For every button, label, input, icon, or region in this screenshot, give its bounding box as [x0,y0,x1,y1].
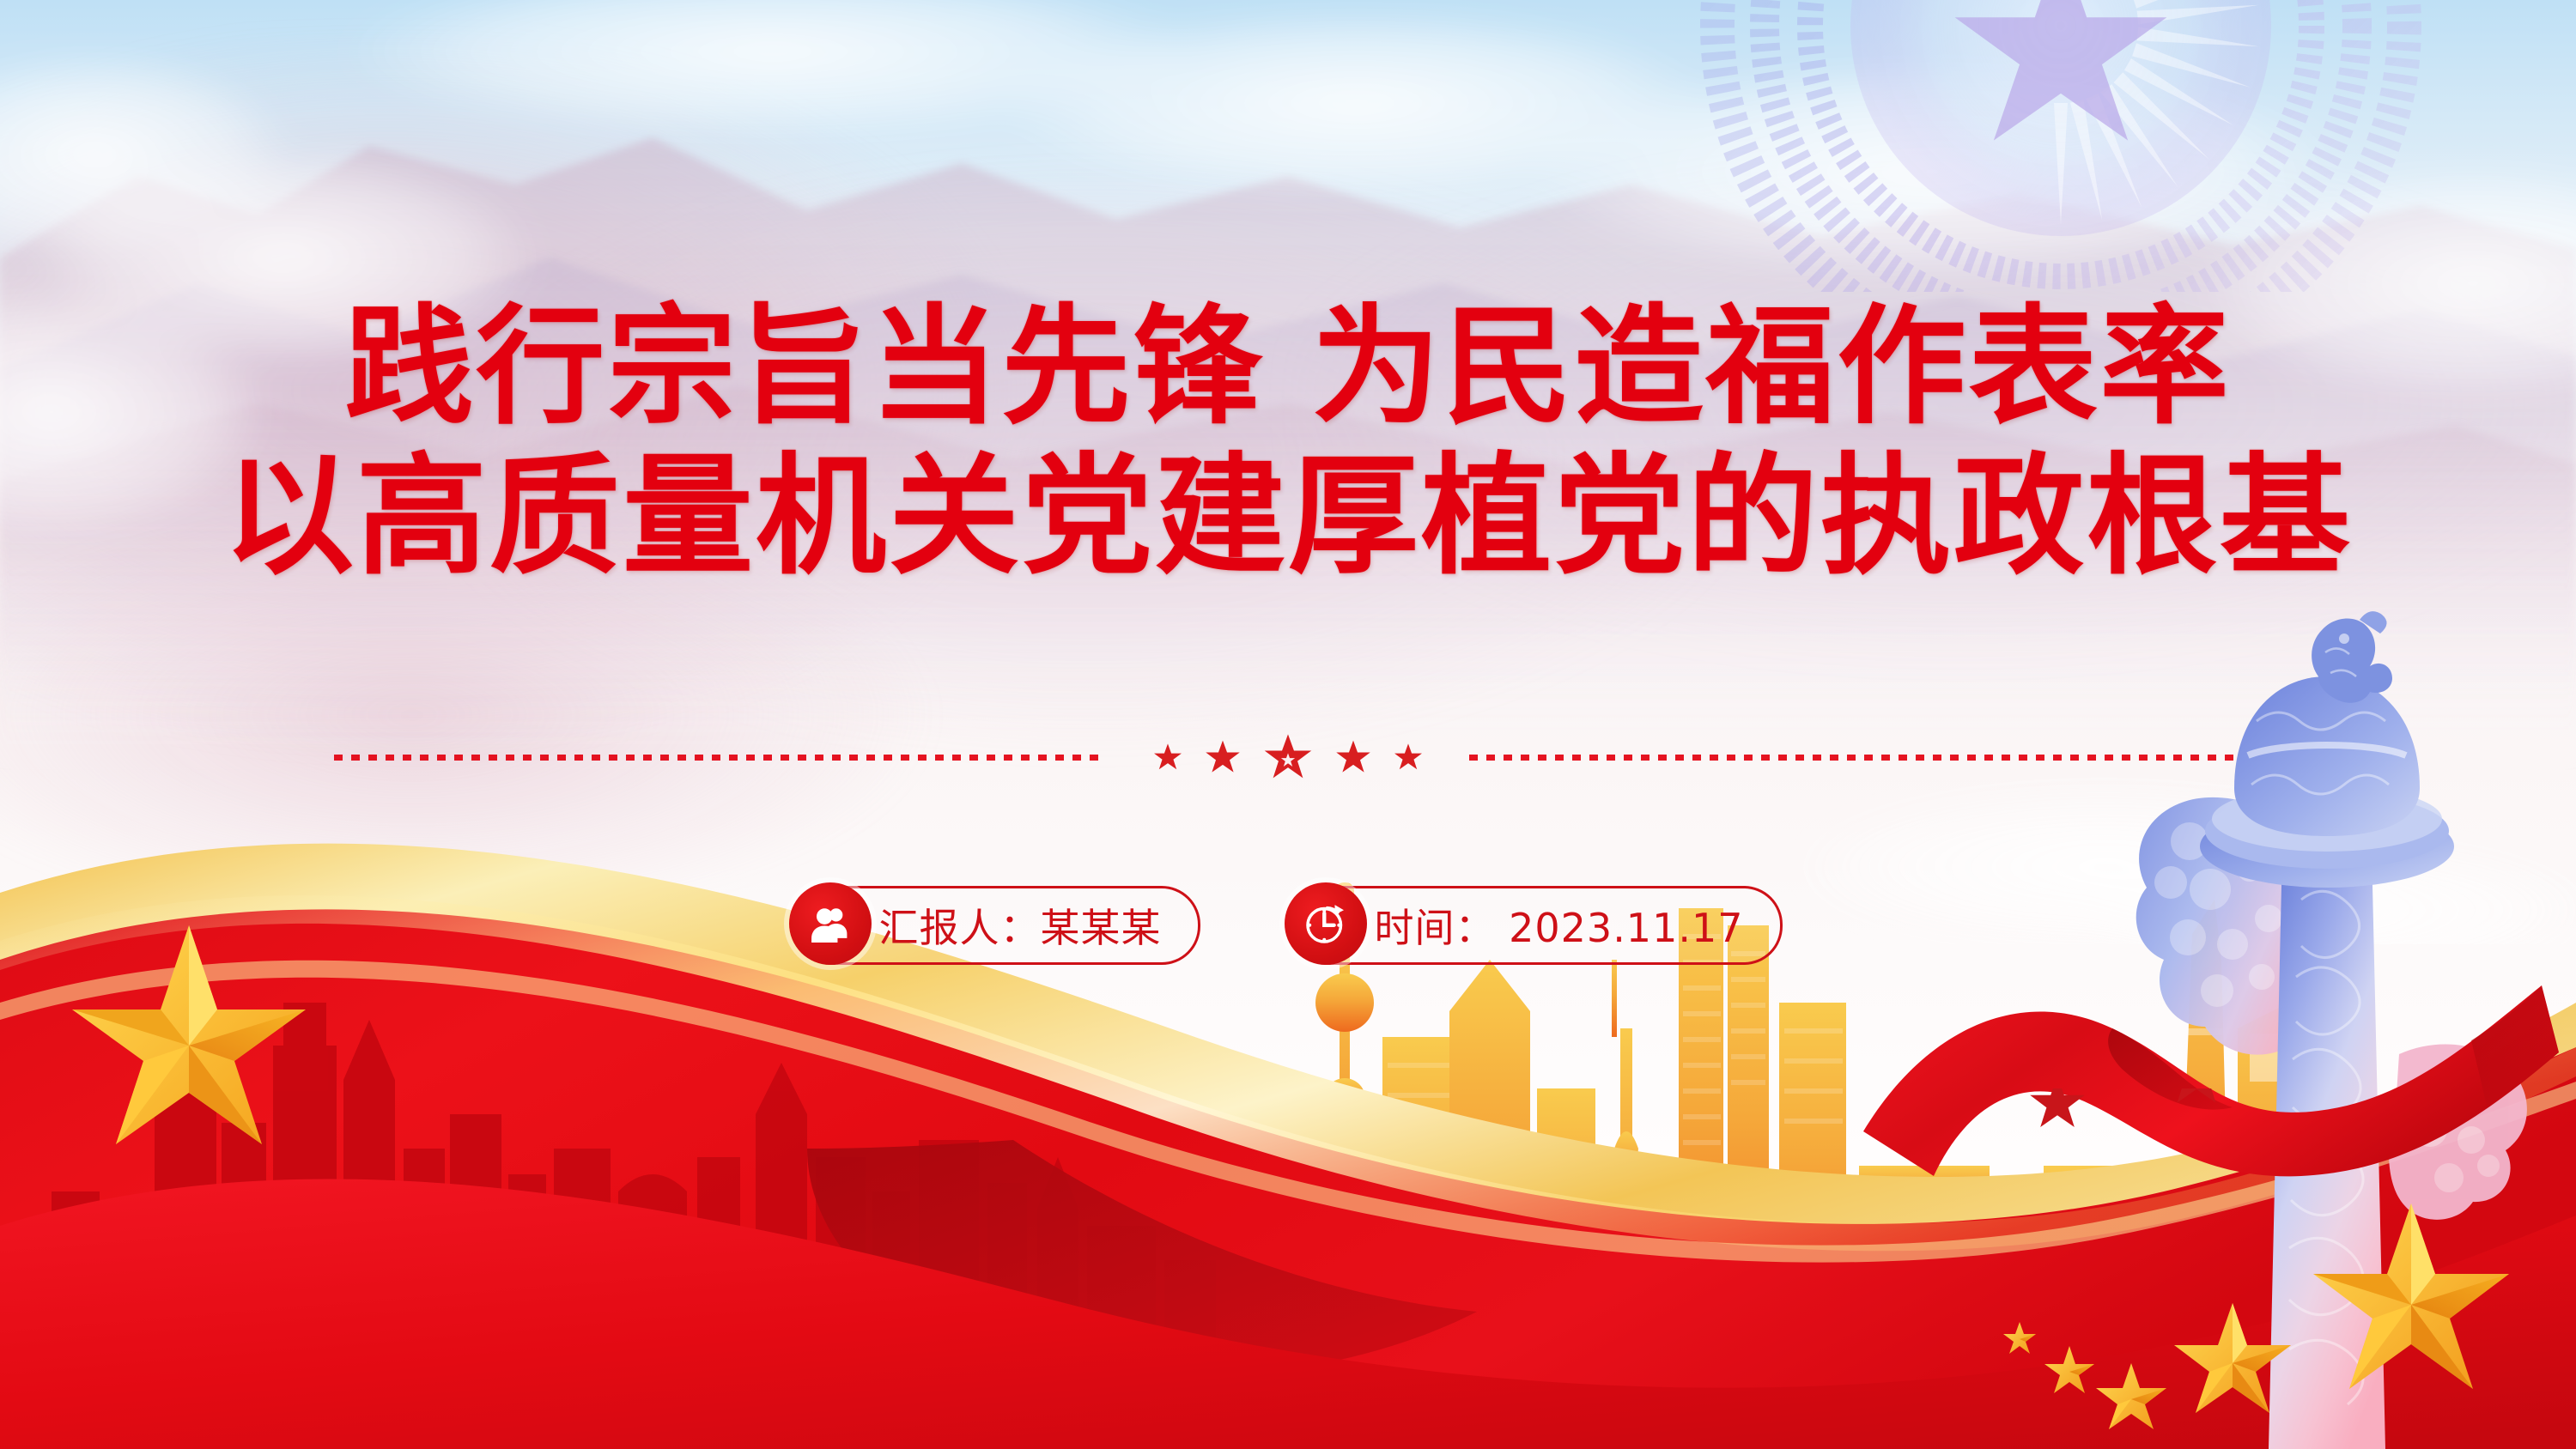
gold-star-cluster [1975,1088,2576,1449]
title-line-2: 以高质量机关党建厚植党的执政根基 [0,452,2576,582]
clock-icon [1285,882,1367,965]
divider-star-icon-4 [1335,739,1371,775]
divider-star-icon-1 [1153,743,1182,772]
presenter-badge[interactable]: 汇报人：某某某 [794,884,1200,967]
divider-star-icon-5 [1394,743,1423,772]
divider-stars [1153,732,1423,782]
date-badge[interactable]: 时间： 2023.11.17 [1290,884,1783,967]
date-label: 时间： 2023.11.17 [1375,897,1744,954]
presenter-label: 汇报人：某某某 [879,897,1162,954]
star-divider [0,731,2576,783]
info-badges: 汇报人：某某某 时间： 2023.11.17 [0,884,2576,967]
divider-dotted-line-right [1469,755,2242,761]
divider-star-icon-3 [1263,732,1313,782]
party-emblem-watermark-icon [1692,0,2430,292]
users-icon [789,882,872,965]
divider-dotted-line-left [334,755,1107,761]
title-line-1: 践行宗旨当先锋 为民造福作表率 [0,302,2576,433]
slide-title: 践行宗旨当先锋 为民造福作表率 以高质量机关党建厚植党的执政根基 [0,302,2576,582]
divider-star-icon-2 [1205,739,1241,775]
presentation-cover-slide: 践行宗旨当先锋 为民造福作表率 以高质量机关党建厚植党的执政根基 [0,0,2576,1449]
